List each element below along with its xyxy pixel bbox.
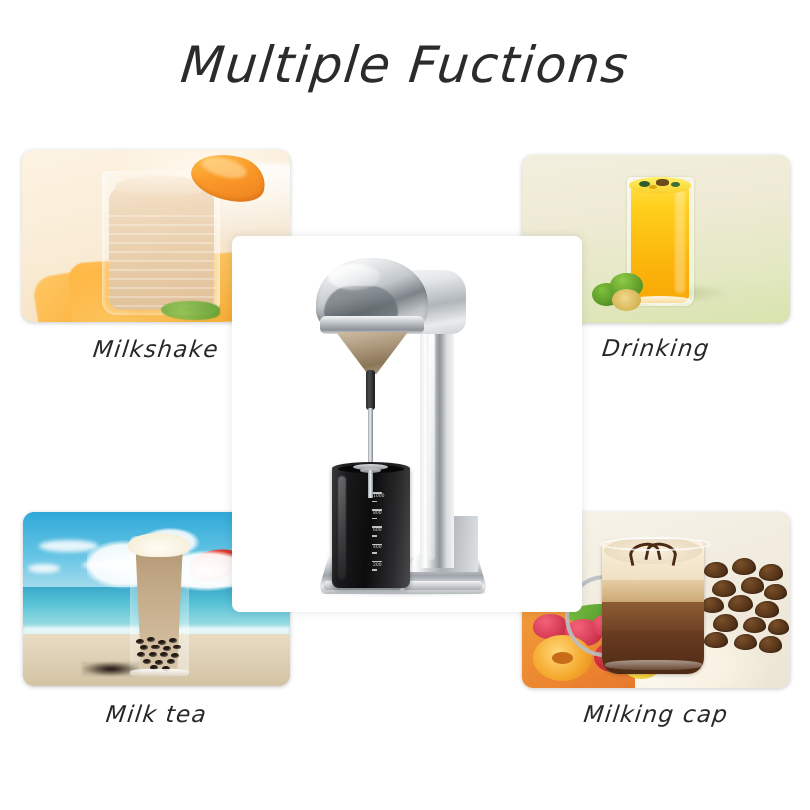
scale-mark-400: 400	[373, 545, 382, 550]
card-label-milkingcap: Milking cap	[520, 702, 791, 728]
coffee-layer-mid	[602, 602, 704, 631]
coffee-layer-upper	[602, 580, 704, 601]
milktea-glass-base	[130, 669, 189, 678]
mixer-collar	[320, 316, 424, 334]
marketing-image: Multiple Fuctions Milkshake	[0, 0, 810, 810]
mixer-support-column	[420, 328, 454, 568]
drink-mixer-product: 1000 800 600 400 200	[232, 236, 582, 612]
scale-mark-800: 800	[373, 511, 382, 516]
scale-mark-600: 600	[373, 528, 382, 533]
mixing-cup-highlight	[338, 476, 346, 580]
page-title: Multiple Fuctions	[0, 36, 810, 94]
milkingcap-coffee-beans	[699, 558, 790, 667]
milkingcap-mug-base	[605, 660, 701, 671]
card-label-milktea: Milk tea	[21, 702, 291, 728]
scale-mark-200: 200	[373, 563, 382, 568]
milktea-cloud-3	[28, 564, 60, 573]
drinking-garnish-bits	[635, 178, 686, 191]
scale-mark-1000: 1000	[373, 494, 384, 499]
mixer-base-foot	[400, 588, 405, 593]
mixer-head-highlight	[328, 264, 380, 290]
milkingcap-mug-rim	[600, 537, 711, 552]
mixer-shaft-tip	[368, 470, 373, 498]
mixer-shaft-coupler	[366, 370, 375, 410]
milktea-tapioca-pearls	[135, 637, 183, 670]
mixer-cone-housing	[336, 332, 408, 374]
mixing-cup-measurement-scale: 1000 800 600 400 200	[372, 492, 388, 578]
product-card: 1000 800 600 400 200	[232, 236, 582, 612]
mixer-head-shading	[324, 286, 398, 320]
milktea-cream-top	[128, 533, 189, 557]
mixer-mixing-shaft	[368, 408, 373, 470]
milkshake-glass-ridges	[108, 215, 215, 308]
milkingcap-glass-mug	[602, 540, 704, 674]
mixer-column-highlight	[428, 332, 435, 560]
